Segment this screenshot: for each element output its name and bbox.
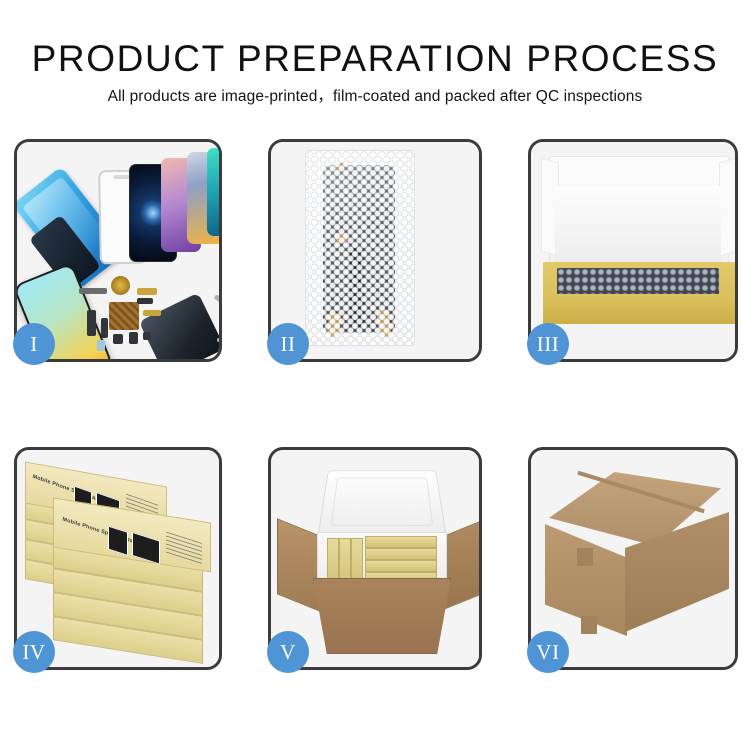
packing-tape-lower <box>581 616 597 634</box>
step-panel-5[interactable]: V <box>268 447 482 670</box>
small-chip-image <box>137 298 153 304</box>
step-badge-6: VI <box>527 631 569 673</box>
packed-yellow-box-4 <box>365 536 437 548</box>
box-spec-lines-front <box>166 532 202 567</box>
product-window-front-2 <box>132 532 160 565</box>
tiny-chip-image <box>143 332 151 340</box>
carton-base-image <box>313 578 451 654</box>
yellow-box-front-face <box>543 294 735 324</box>
button-part-image <box>113 334 123 344</box>
page-subtitle: All products are image-printed，film-coat… <box>0 86 750 108</box>
screw-image <box>217 338 219 342</box>
step-3-image <box>531 142 735 359</box>
logic-board-image <box>109 302 139 330</box>
bubble-texture <box>306 151 414 345</box>
step-badge-2: II <box>267 323 309 365</box>
step-6-image <box>531 450 735 667</box>
step-badge-5: V <box>267 631 309 673</box>
step-panel-6[interactable]: VI <box>528 447 738 670</box>
gold-strip-image <box>143 310 161 316</box>
camera-part-image <box>129 332 138 344</box>
foam-lid-image <box>317 470 447 537</box>
bubble-wrap-bag-image <box>305 150 415 346</box>
product-preparation-infographic: PRODUCT PREPARATION PROCESS All products… <box>0 0 750 750</box>
foam-lid-right-flap <box>719 157 735 256</box>
gold-connector-image <box>137 288 157 295</box>
step-panel-3[interactable]: III <box>528 139 738 362</box>
step-badge-3: III <box>527 323 569 365</box>
teal-phone-image <box>207 148 219 236</box>
sim-tray-image <box>97 340 105 351</box>
speaker-component-icon <box>111 276 130 295</box>
page-title: PRODUCT PREPARATION PROCESS <box>0 38 750 80</box>
step-2-image <box>271 142 479 359</box>
step-panel-2[interactable]: II <box>268 139 482 362</box>
foam-inner-panel <box>555 186 721 266</box>
packed-yellow-box-6 <box>365 560 437 572</box>
packed-yellow-box-5 <box>365 548 437 560</box>
step-panel-4[interactable]: Mobile Phone Spare Parts Mobile Phone Sp… <box>14 447 222 670</box>
step-panel-1[interactable]: I <box>14 139 222 362</box>
product-window-front-1 <box>108 526 128 556</box>
packing-tape-upper <box>577 548 593 566</box>
flex-strip-image <box>87 310 96 336</box>
tweezers-image <box>214 294 219 311</box>
step-1-image <box>17 142 219 359</box>
step-badge-1: I <box>13 323 55 365</box>
step-badge-4: IV <box>13 631 55 673</box>
flex-strip-2-image <box>101 318 108 338</box>
step-5-image <box>271 450 479 667</box>
component-strip-image <box>79 288 107 294</box>
step-4-image: Mobile Phone Spare Parts Mobile Phone Sp… <box>17 450 219 667</box>
